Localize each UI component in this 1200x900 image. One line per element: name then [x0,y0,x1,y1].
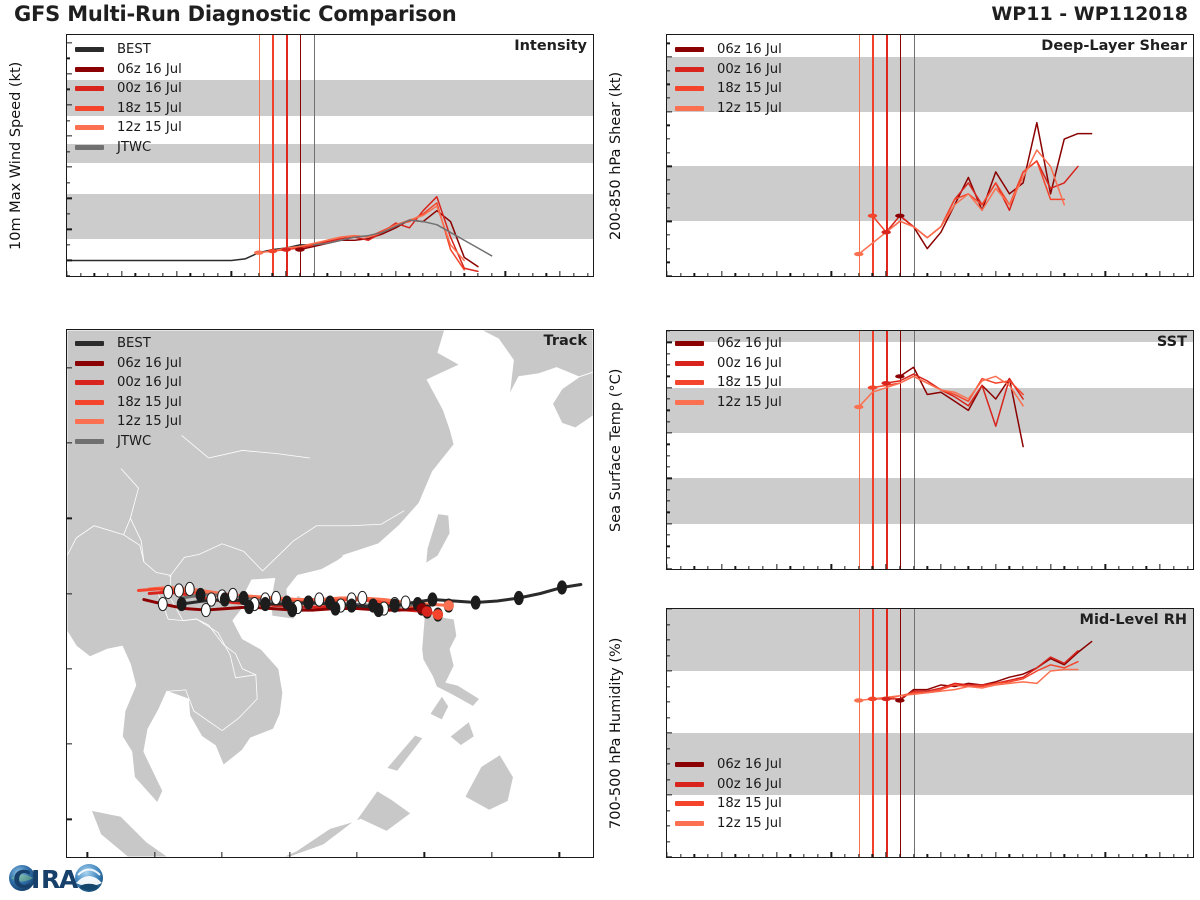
track-marker-filled [369,599,378,612]
x-tick-mark-minor [968,273,969,276]
y-tick-mark [667,387,672,388]
legend-item[interactable]: 06z 16 Jul [675,40,782,60]
y-tick-mark-minor [667,701,670,702]
x-tick-mark [721,271,722,276]
x-tick-mark-minor [981,566,982,569]
track-marker-filled [177,597,186,610]
legend: 06z 16 Jul00z 16 Jul18z 15 Jul12z 15 Jul [675,40,782,118]
legend-item[interactable]: BEST [75,334,182,354]
track-start-marker [422,606,433,617]
x-tick-mark [666,852,667,857]
x-tick-mark-minor [327,273,328,276]
y-tick-mark-minor [667,639,670,640]
legend-label: 12z 15 Jul [717,101,782,116]
x-tick-mark-minor [491,273,492,276]
x-tick-mark-minor [518,273,519,276]
legend-color-swatch [675,86,704,91]
x-tick-mark-minor [790,566,791,569]
y-tick-mark-minor [667,489,670,490]
x-tick-mark-minor [1146,854,1147,857]
x-tick-mark-minor [94,273,95,276]
x-tick-mark [776,271,777,276]
x-tick-mark-minor [817,854,818,857]
x-tick-mark-minor [844,273,845,276]
legend-label: 18z 15 Jul [717,81,782,96]
legend-item[interactable]: 00z 16 Jul [675,60,782,80]
x-tick-mark [995,564,996,569]
x-tick-mark-minor [1173,566,1174,569]
x-tick-mark [831,271,832,276]
y-tick-mark-minor [667,841,670,842]
legend-color-swatch [75,47,104,52]
y-tick-mark-minor [667,353,670,354]
y-tick-mark-minor [667,546,670,547]
x-tick-mark [176,271,177,276]
legend-item[interactable]: 12z 15 Jul [675,99,782,119]
x-tick-mark [1050,271,1051,276]
map-x-tick-mark [289,852,290,857]
y-tick-mark-minor [667,398,670,399]
series-start-marker [895,374,904,378]
legend-item[interactable]: BEST [75,40,182,60]
legend-item[interactable]: 18z 15 Jul [675,794,782,814]
track-marker-open [164,585,173,598]
legend-item[interactable]: 00z 16 Jul [675,354,782,374]
x-tick-mark [721,564,722,569]
y-tick-mark-minor [667,455,670,456]
x-tick-mark [450,271,451,276]
legend-color-swatch [75,419,104,424]
x-tick-mark-minor [1187,273,1188,276]
x-tick-mark-minor [913,273,914,276]
track-panel[interactable]: Track 5°N10°N15°N20°N25°N30°N35°N95°E100… [66,329,594,858]
series-line [900,642,1092,701]
y-tick-mark-minor [667,193,670,194]
series-line [886,161,1078,238]
x-tick-mark-minor [817,273,818,276]
x-tick-mark-minor [762,854,763,857]
svg-text:I: I [31,865,40,894]
legend-label: 06z 16 Jul [717,336,782,351]
x-tick-mark [940,271,941,276]
svg-text:C: C [13,865,31,894]
x-tick-mark [776,564,777,569]
shear-panel: Deep-Layer Shear 01020304012Jul00z13Jul0… [666,34,1194,277]
x-tick-mark-minor [1077,854,1078,857]
x-tick-mark-minor [694,854,695,857]
legend-label: 00z 16 Jul [717,62,782,77]
rh-panel: Mid-Level RH 2040608010012Jul00z13Jul00z… [666,608,1194,858]
legend-label: 06z 16 Jul [717,757,782,772]
y-tick-mark-minor [667,97,670,98]
y-tick-mark-minor [667,262,670,263]
x-tick-mark [776,852,777,857]
legend-color-swatch [75,125,104,130]
x-tick-mark-minor [680,566,681,569]
legend-label: 00z 16 Jul [717,356,782,371]
legend-item[interactable]: 12z 15 Jul [675,393,782,413]
legend: BEST06z 16 Jul00z 16 Jul18z 15 Jul12z 15… [75,40,182,157]
legend-item[interactable]: 18z 15 Jul [75,393,182,413]
x-tick-mark-minor [1173,273,1174,276]
y-tick-mark-minor [667,717,670,718]
x-tick-mark-minor [735,566,736,569]
legend-item[interactable]: JTWC [75,138,182,158]
legend-label: 00z 16 Jul [717,777,782,792]
x-tick-mark-minor [1118,273,1119,276]
series-line [900,123,1092,249]
legend-color-swatch [675,782,704,787]
x-tick-mark-minor [927,566,928,569]
map-y-tick-mark [67,593,72,594]
x-tick-mark [886,271,887,276]
legend-label: 18z 15 Jul [117,395,182,410]
legend-item[interactable]: 00z 16 Jul [675,775,782,795]
legend-color-swatch [675,821,704,826]
x-tick-mark-minor [1091,273,1092,276]
y-tick-mark [67,73,72,74]
y-tick-mark [67,260,72,261]
y-tick-mark [667,523,672,524]
x-tick-mark-minor [968,566,969,569]
map-x-tick-mark [559,852,560,857]
x-tick-mark [886,852,887,857]
legend-label: 06z 16 Jul [117,356,182,371]
legend: 06z 16 Jul00z 16 Jul18z 15 Jul12z 15 Jul [675,334,782,412]
legend-color-swatch [675,400,704,405]
series-start-marker [854,698,863,702]
x-tick-mark [1159,564,1160,569]
legend-item[interactable]: 12z 15 Jul [675,814,782,834]
series-start-marker [881,697,890,701]
x-tick-mark [1159,852,1160,857]
x-tick-mark-minor [749,273,750,276]
x-tick-mark-minor [203,273,204,276]
y-tick-mark [667,794,672,795]
x-tick-mark [721,852,722,857]
legend-color-swatch [675,762,704,767]
map-y-tick-mark [67,442,72,443]
x-tick-mark-minor [1091,566,1092,569]
x-tick-mark-minor [762,273,763,276]
x-tick-mark-minor [149,273,150,276]
y-tick-mark [67,198,72,199]
x-tick-mark-minor [162,273,163,276]
y-tick-mark [667,221,672,222]
legend-item[interactable]: 00z 16 Jul [75,373,182,393]
x-tick-mark-minor [1187,566,1188,569]
series-start-marker [854,405,863,409]
y-tick-mark-minor [667,70,670,71]
x-tick-mark-minor [422,273,423,276]
track-panel-label: Track [544,333,587,349]
series-start-marker [254,251,263,255]
y-tick-mark [667,432,672,433]
y-tick-mark [67,229,72,230]
track-marker-filled [282,596,291,609]
y-tick-mark [667,732,672,733]
x-tick-mark [505,271,506,276]
y-tick-mark-minor [667,376,670,377]
legend-color-swatch [75,86,104,91]
y-tick-mark-minor [667,624,670,625]
x-tick-mark [1159,271,1160,276]
x-tick-mark-minor [107,273,108,276]
x-tick-mark [995,852,996,857]
x-tick-mark-minor [872,566,873,569]
x-tick-mark [395,271,396,276]
landmass [553,372,593,428]
x-tick-mark-minor [844,854,845,857]
x-tick-mark-minor [803,566,804,569]
series-start-marker [881,381,890,385]
legend-color-swatch [75,341,104,346]
x-tick-mark-minor [844,566,845,569]
legend-label: BEST [117,42,151,57]
legend-item[interactable]: 18z 15 Jul [675,79,782,99]
x-tick-mark-minor [1146,273,1147,276]
y-tick-mark-minor [67,213,70,214]
y-tick-mark-minor [667,534,670,535]
legend-item[interactable]: 18z 15 Jul [675,373,782,393]
y-tick-mark-minor [667,779,670,780]
x-tick-mark-minor [80,273,81,276]
legend-color-swatch [75,145,104,150]
map-x-tick-mark [424,852,425,857]
landmass [465,755,514,811]
legend-item[interactable]: 00z 16 Jul [75,79,182,99]
series-start-marker [295,247,304,251]
track-marker-filled [220,593,229,606]
x-tick-mark-minor [749,566,750,569]
rh-y-axis-label: 700-500 hPa Humidity (%) [606,608,626,858]
series-line [67,245,314,261]
x-tick-mark-minor [1077,566,1078,569]
y-tick-mark-minor [667,179,670,180]
x-tick-mark-minor [968,854,969,857]
y-tick-mark-minor [667,43,670,44]
y-tick-mark-minor [67,151,70,152]
x-tick-mark-minor [899,273,900,276]
legend-item[interactable]: 06z 16 Jul [75,60,182,80]
track-marker-open [358,591,367,604]
map-x-tick-mark [154,852,155,857]
legend-item[interactable]: 18z 15 Jul [75,99,182,119]
y-tick-mark-minor [667,125,670,126]
x-tick-mark [559,271,560,276]
x-tick-mark-minor [899,566,900,569]
legend: 06z 16 Jul00z 16 Jul18z 15 Jul12z 15 Jul [675,755,782,833]
x-tick-mark-minor [272,273,273,276]
y-tick-mark [67,135,72,136]
legend-label: 18z 15 Jul [717,796,782,811]
y-tick-mark-minor [667,500,670,501]
track-start-marker [433,609,444,620]
x-tick-mark-minor [1022,566,1023,569]
sst-panel: SST 22242628303212Jul00z13Jul00z14Jul00z… [666,330,1194,570]
series-start-marker [895,214,904,218]
series-start-marker [895,698,904,702]
cira-logo-graphic: C I R A [5,857,113,897]
series-line [859,150,1064,254]
x-tick-mark [995,271,996,276]
legend-label: 12z 15 Jul [117,414,182,429]
y-tick-mark [667,166,672,167]
x-tick-mark-minor [1036,854,1037,857]
x-tick-mark-minor [735,854,736,857]
x-tick-mark-minor [464,273,465,276]
x-tick-mark-minor [1132,854,1133,857]
x-tick-mark-minor [1036,566,1037,569]
x-tick-mark [231,271,232,276]
x-tick-mark-minor [899,854,900,857]
landmass [430,696,449,720]
x-tick-mark-minor [1064,566,1065,569]
landmass [91,810,168,857]
x-tick-mark-minor [680,273,681,276]
x-tick-mark-minor [749,854,750,857]
x-tick-mark-minor [981,854,982,857]
x-tick-mark-minor [858,854,859,857]
legend-color-swatch [75,106,104,111]
x-tick-mark [666,564,667,569]
landmass [422,615,480,707]
x-tick-mark-minor [790,854,791,857]
legend-item[interactable]: 12z 15 Jul [75,118,182,138]
x-tick-mark-minor [217,273,218,276]
y-tick-mark-minor [667,234,670,235]
landmass [426,514,450,564]
track-marker-open [185,582,194,595]
x-tick-mark [1105,564,1106,569]
cira-logo: C I R A [5,857,113,897]
y-tick-mark-minor [67,182,70,183]
x-tick-mark-minor [927,854,928,857]
track-marker-filled [514,591,523,604]
x-tick-mark [666,271,667,276]
x-tick-mark-minor [587,273,588,276]
map-y-tick-mark [67,743,72,744]
track-marker-open [272,591,281,604]
track-marker-filled [471,596,480,609]
series-line [872,662,1077,699]
legend-label: 00z 16 Jul [117,81,182,96]
legend-item[interactable]: 06z 16 Jul [675,334,782,354]
legend-item[interactable]: 06z 16 Jul [675,755,782,775]
x-tick-mark-minor [1009,566,1010,569]
series-line [886,651,1078,699]
y-tick-mark-minor [667,763,670,764]
x-tick-mark-minor [817,566,818,569]
x-tick-mark [1105,271,1106,276]
x-tick-mark-minor [313,273,314,276]
x-tick-mark [831,852,832,857]
x-tick-mark-minor [913,566,914,569]
x-tick-mark [66,271,67,276]
legend-item[interactable]: 06z 16 Jul [75,354,182,374]
y-tick-mark-minor [667,466,670,467]
y-tick-mark [67,167,72,168]
series-start-marker [868,214,877,218]
y-tick-mark [67,104,72,105]
series-start-marker [868,386,877,390]
y-tick-mark-minor [67,120,70,121]
storm-id-title: WP11 - WP112018 [991,3,1188,25]
legend-label: 12z 15 Jul [117,120,182,135]
legend-item[interactable]: 12z 15 Jul [75,412,182,432]
legend-color-swatch [675,801,704,806]
x-tick-mark-minor [858,273,859,276]
legend-color-swatch [675,67,704,72]
series-line [872,161,1064,238]
x-tick-mark-minor [872,854,873,857]
x-tick-mark [121,271,122,276]
map-y-tick-mark [67,668,72,669]
rh-panel-label: Mid-Level RH [1080,612,1187,628]
legend-label: BEST [117,336,151,351]
map-x-tick-mark [491,852,492,857]
y-tick-mark-minor [667,330,670,331]
x-tick-mark [831,564,832,569]
y-tick-mark [667,568,672,569]
landmass [450,721,474,745]
x-tick-mark-minor [803,273,804,276]
sst-y-axis-label: Sea Surface Temp (°C) [606,330,626,570]
sst-panel-label: SST [1157,334,1187,350]
y-tick-mark-minor [667,748,670,749]
intensity-y-axis-label: 10m Max Wind Speed (kt) [6,34,26,277]
x-tick-mark-minor [1132,566,1133,569]
track-marker-open [158,597,167,610]
x-tick-mark-minor [258,273,259,276]
y-tick-mark-minor [67,58,70,59]
y-tick-mark-minor [667,138,670,139]
series-start-marker [854,252,863,256]
svg-text:R: R [41,865,60,894]
legend-label: 12z 15 Jul [717,395,782,410]
legend-label: 12z 15 Jul [717,816,782,831]
x-tick-mark-minor [354,273,355,276]
series-start-marker [268,249,277,253]
series-start-marker [881,230,890,234]
legend-label: 06z 16 Jul [117,62,182,77]
x-tick-mark [940,852,941,857]
y-tick-mark-minor [667,512,670,513]
landmass [387,735,423,771]
y-tick-mark-minor [67,244,70,245]
y-tick-mark-minor [667,84,670,85]
x-tick-mark [1050,564,1051,569]
map-y-tick-mark [67,518,72,519]
y-tick-mark-minor [667,810,670,811]
x-tick-mark-minor [858,566,859,569]
x-tick-mark-minor [762,566,763,569]
x-tick-mark-minor [1022,273,1023,276]
x-tick-mark-minor [1077,273,1078,276]
x-tick-mark-minor [913,854,914,857]
x-tick-mark-minor [1118,566,1119,569]
legend-label: 06z 16 Jul [717,42,782,57]
track-marker-open [401,596,410,609]
legend-item[interactable]: JTWC [75,432,182,452]
x-tick-mark-minor [1118,854,1119,857]
x-tick-mark-minor [381,273,382,276]
x-tick-mark-minor [409,273,410,276]
shear-panel-label: Deep-Layer Shear [1041,38,1187,54]
legend-color-swatch [675,47,704,52]
legend-color-swatch [75,380,104,385]
x-tick-mark-minor [981,273,982,276]
